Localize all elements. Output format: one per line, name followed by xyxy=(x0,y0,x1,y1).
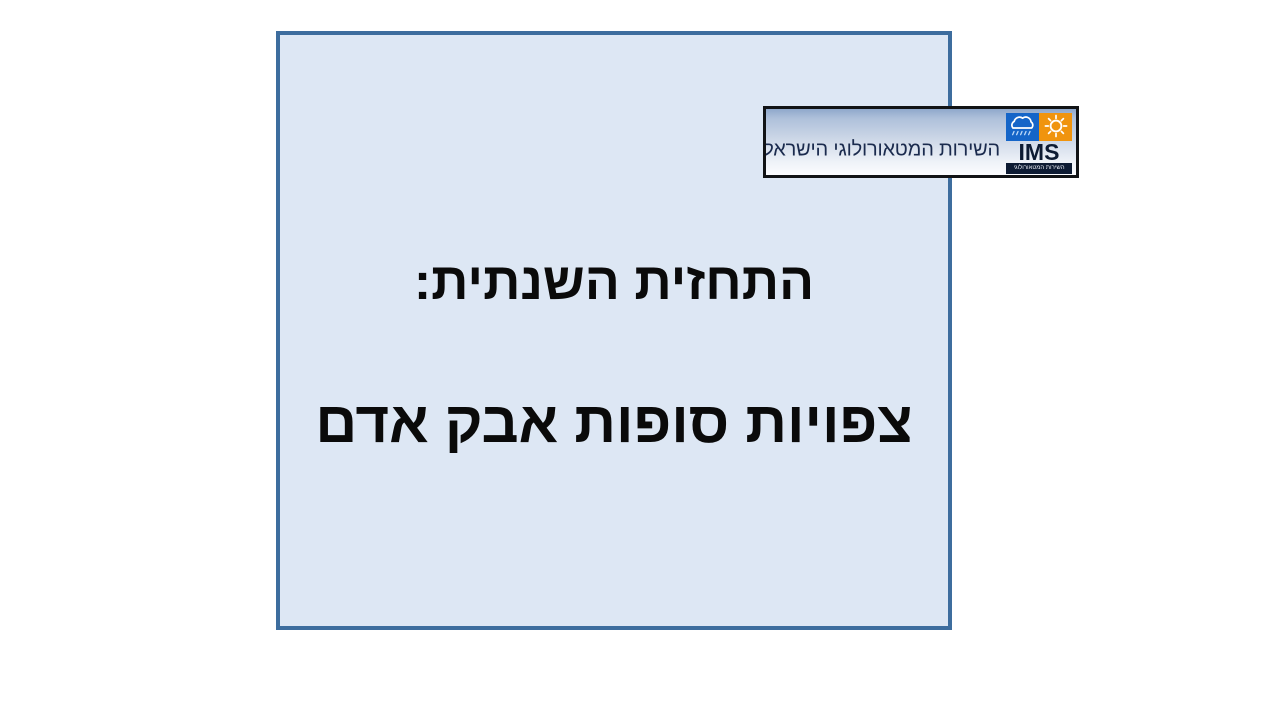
emblem-weather-tiles xyxy=(1006,113,1072,141)
cloud-rain-icon xyxy=(1006,113,1039,141)
ims-acronym: IMS xyxy=(1006,140,1072,164)
ims-logo: השירות המטאורולוגי הישראלי xyxy=(763,106,1079,178)
slide-text-block: התחזית השנתית: צפויות סופות אבק אדם xyxy=(280,230,948,456)
sun-icon xyxy=(1039,113,1072,141)
slide-title: התחזית השנתית: xyxy=(280,252,948,312)
ims-caption: השירות המטאורולוגי xyxy=(1006,163,1072,174)
slide-canvas: השירות המטאורולוגי הישראלי xyxy=(0,0,1280,720)
logo-wordmark: השירות המטאורולוגי הישראלי xyxy=(763,139,1000,162)
slide-subtitle: צפויות סופות אבק אדם xyxy=(280,390,948,456)
logo-inner: השירות המטאורולוגי הישראלי xyxy=(766,109,1076,175)
ims-emblem: IMS השירות המטאורולוגי xyxy=(1006,111,1072,177)
